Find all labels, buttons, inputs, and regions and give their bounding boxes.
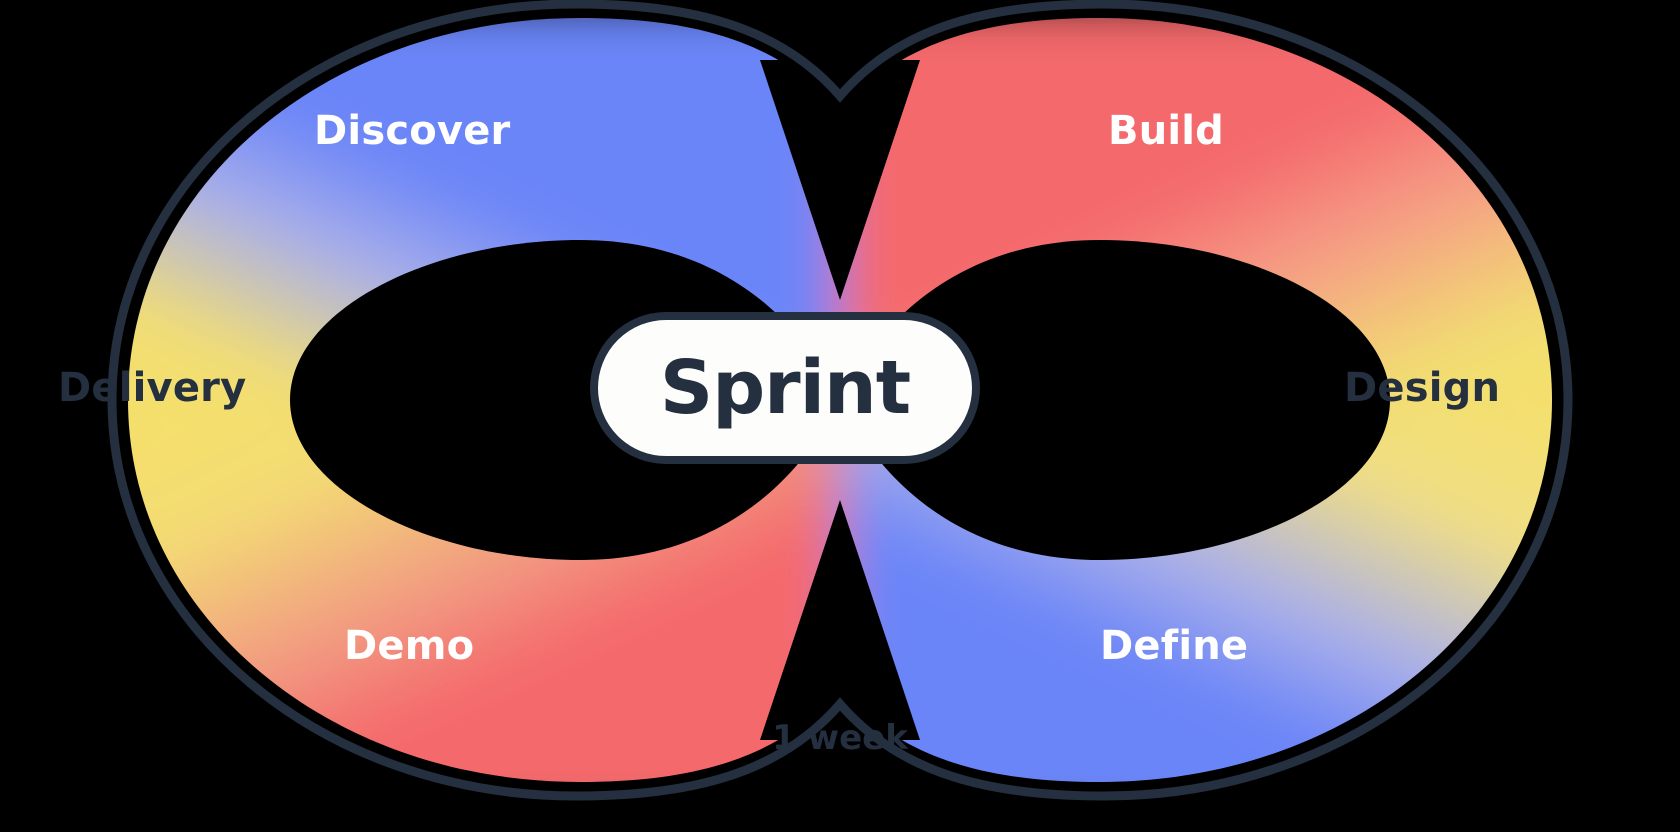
phase-label-demo[interactable]: Demo	[344, 623, 474, 669]
phase-label-define[interactable]: Define	[1100, 623, 1248, 669]
phase-label-delivery[interactable]: Delivery	[58, 365, 246, 411]
sprint-badge[interactable]: Sprint	[590, 312, 980, 464]
duration-label: 1 week	[0, 718, 1680, 758]
sprint-badge-label: Sprint	[660, 351, 910, 425]
phase-label-discover[interactable]: Discover	[314, 108, 510, 154]
infinity-loop-diagram: Discover Build Delivery Design Demo Defi…	[0, 0, 1680, 832]
phase-label-design[interactable]: Design	[1344, 365, 1500, 411]
phase-label-build[interactable]: Build	[1108, 108, 1224, 154]
